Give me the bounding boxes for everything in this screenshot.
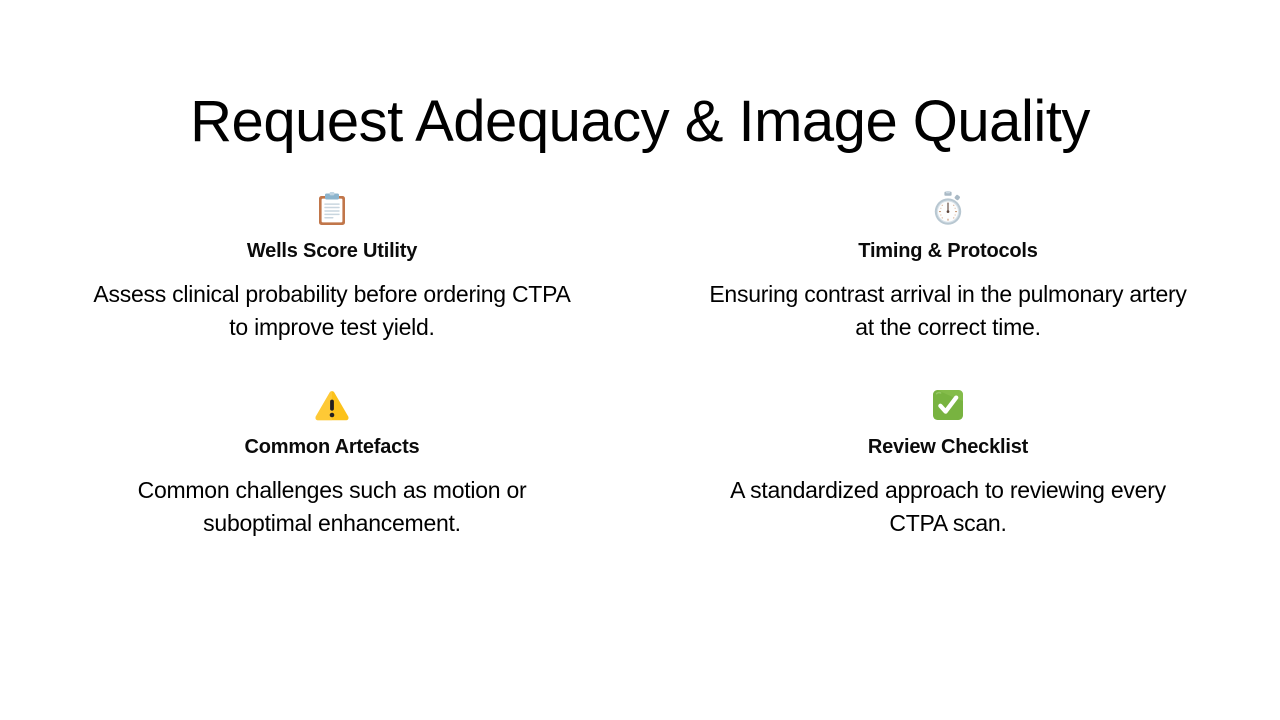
feature-card-wells-score-utility: Wells Score Utility Assess clinical prob… — [24, 190, 640, 344]
feature-card-body: Assess clinical probability before order… — [92, 278, 572, 344]
feature-card-body: Common challenges such as motion or subo… — [92, 474, 572, 540]
warning-triangle-icon — [315, 386, 349, 424]
feature-card-body: Ensuring contrast arrival in the pulmona… — [708, 278, 1188, 344]
feature-card-grid: Wells Score Utility Assess clinical prob… — [24, 190, 1256, 540]
clipboard-icon — [315, 190, 349, 228]
slide-root: Request Adequacy & Image Quality Wells S… — [0, 0, 1280, 720]
feature-card-title: Review Checklist — [868, 434, 1028, 460]
feature-card-review-checklist: Review Checklist A standardized approach… — [640, 386, 1256, 540]
page-title: Request Adequacy & Image Quality — [0, 87, 1280, 157]
feature-card-timing-and-protocols: Timing & Protocols Ensuring contrast arr… — [640, 190, 1256, 344]
feature-card-common-artefacts: Common Artefacts Common challenges such … — [24, 386, 640, 540]
feature-card-body: A standardized approach to reviewing eve… — [708, 474, 1188, 540]
feature-card-title: Timing & Protocols — [858, 238, 1037, 264]
feature-card-title: Common Artefacts — [245, 434, 420, 460]
stopwatch-icon — [931, 190, 965, 228]
check-mark-button-icon — [931, 386, 965, 424]
feature-card-title: Wells Score Utility — [247, 238, 417, 264]
